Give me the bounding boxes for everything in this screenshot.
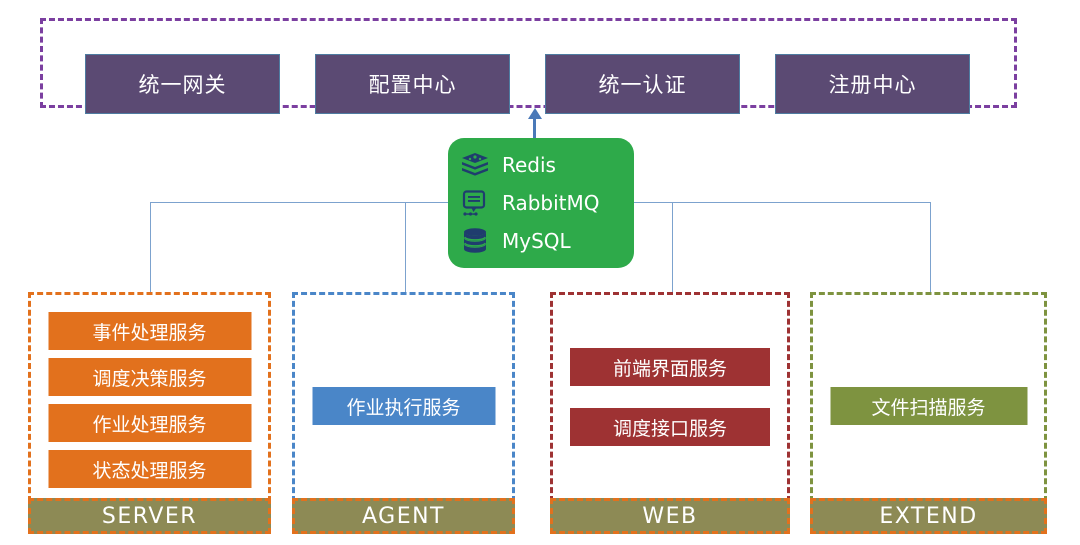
middleware-item-label: RabbitMQ <box>502 191 600 215</box>
platform-box-label: 配置中心 <box>369 69 457 99</box>
service-box[interactable]: 文件扫描服务 <box>830 387 1027 425</box>
module-footer-agent: AGENT <box>292 498 515 534</box>
platform-box-label: 统一网关 <box>139 69 227 99</box>
service-box[interactable]: 事件处理服务 <box>48 312 251 350</box>
module-agent: 作业执行服务 <box>292 292 515 502</box>
service-label: 作业执行服务 <box>346 393 460 420</box>
module-footer-server: SERVER <box>28 498 271 534</box>
middleware-item-label: MySQL <box>502 229 571 253</box>
middleware-item-rabbitmq[interactable]: RabbitMQ <box>458 184 634 222</box>
middleware-item-label: Redis <box>502 153 556 177</box>
platform-box-registry[interactable]: 注册中心 <box>775 54 970 114</box>
service-box[interactable]: 调度接口服务 <box>570 408 770 446</box>
middleware-card[interactable]: Redis <box>448 138 634 268</box>
middleware-item-mysql[interactable]: MySQL <box>458 222 634 260</box>
module-footer-label: EXTEND <box>879 504 977 529</box>
service-label: 文件扫描服务 <box>871 393 985 420</box>
platform-box-config-center[interactable]: 配置中心 <box>315 54 510 114</box>
service-box[interactable]: 作业执行服务 <box>312 387 495 425</box>
service-box[interactable]: 作业处理服务 <box>48 404 251 442</box>
module-web: 前端界面服务 调度接口服务 <box>550 292 790 502</box>
service-box[interactable]: 前端界面服务 <box>570 348 770 386</box>
module-footer-web: WEB <box>550 498 790 534</box>
service-label: 事件处理服务 <box>92 318 206 345</box>
redis-layers-icon <box>458 149 492 181</box>
service-label: 状态处理服务 <box>92 456 206 483</box>
connector-drop-web <box>672 202 673 294</box>
service-label: 前端界面服务 <box>613 354 727 381</box>
module-footer-label: AGENT <box>362 504 445 529</box>
mysql-database-icon <box>458 225 492 257</box>
connector-drop-extend <box>930 202 931 294</box>
module-footer-label: WEB <box>642 504 697 529</box>
platform-box-gateway[interactable]: 统一网关 <box>85 54 280 114</box>
module-server: 事件处理服务 调度决策服务 作业处理服务 状态处理服务 <box>28 292 271 502</box>
rabbitmq-message-icon <box>458 187 492 219</box>
platform-box-label: 统一认证 <box>599 69 687 99</box>
module-footer-label: SERVER <box>102 504 197 529</box>
module-extend: 文件扫描服务 <box>810 292 1047 502</box>
platform-group-container: 统一网关 配置中心 统一认证 注册中心 <box>40 18 1017 108</box>
middleware-to-platform-arrow-stem <box>533 118 536 140</box>
service-label: 调度决策服务 <box>92 364 206 391</box>
service-label: 作业处理服务 <box>92 410 206 437</box>
platform-box-label: 注册中心 <box>829 69 917 99</box>
middleware-to-platform-arrow-head <box>528 108 542 119</box>
connector-drop-server <box>150 202 151 294</box>
service-box[interactable]: 状态处理服务 <box>48 450 251 488</box>
service-label: 调度接口服务 <box>613 414 727 441</box>
service-box[interactable]: 调度决策服务 <box>48 358 251 396</box>
architecture-diagram-canvas: 统一网关 配置中心 统一认证 注册中心 <box>0 0 1080 545</box>
connector-drop-agent <box>405 202 406 294</box>
middleware-item-redis[interactable]: Redis <box>458 146 634 184</box>
platform-box-auth[interactable]: 统一认证 <box>545 54 740 114</box>
module-footer-extend: EXTEND <box>810 498 1047 534</box>
